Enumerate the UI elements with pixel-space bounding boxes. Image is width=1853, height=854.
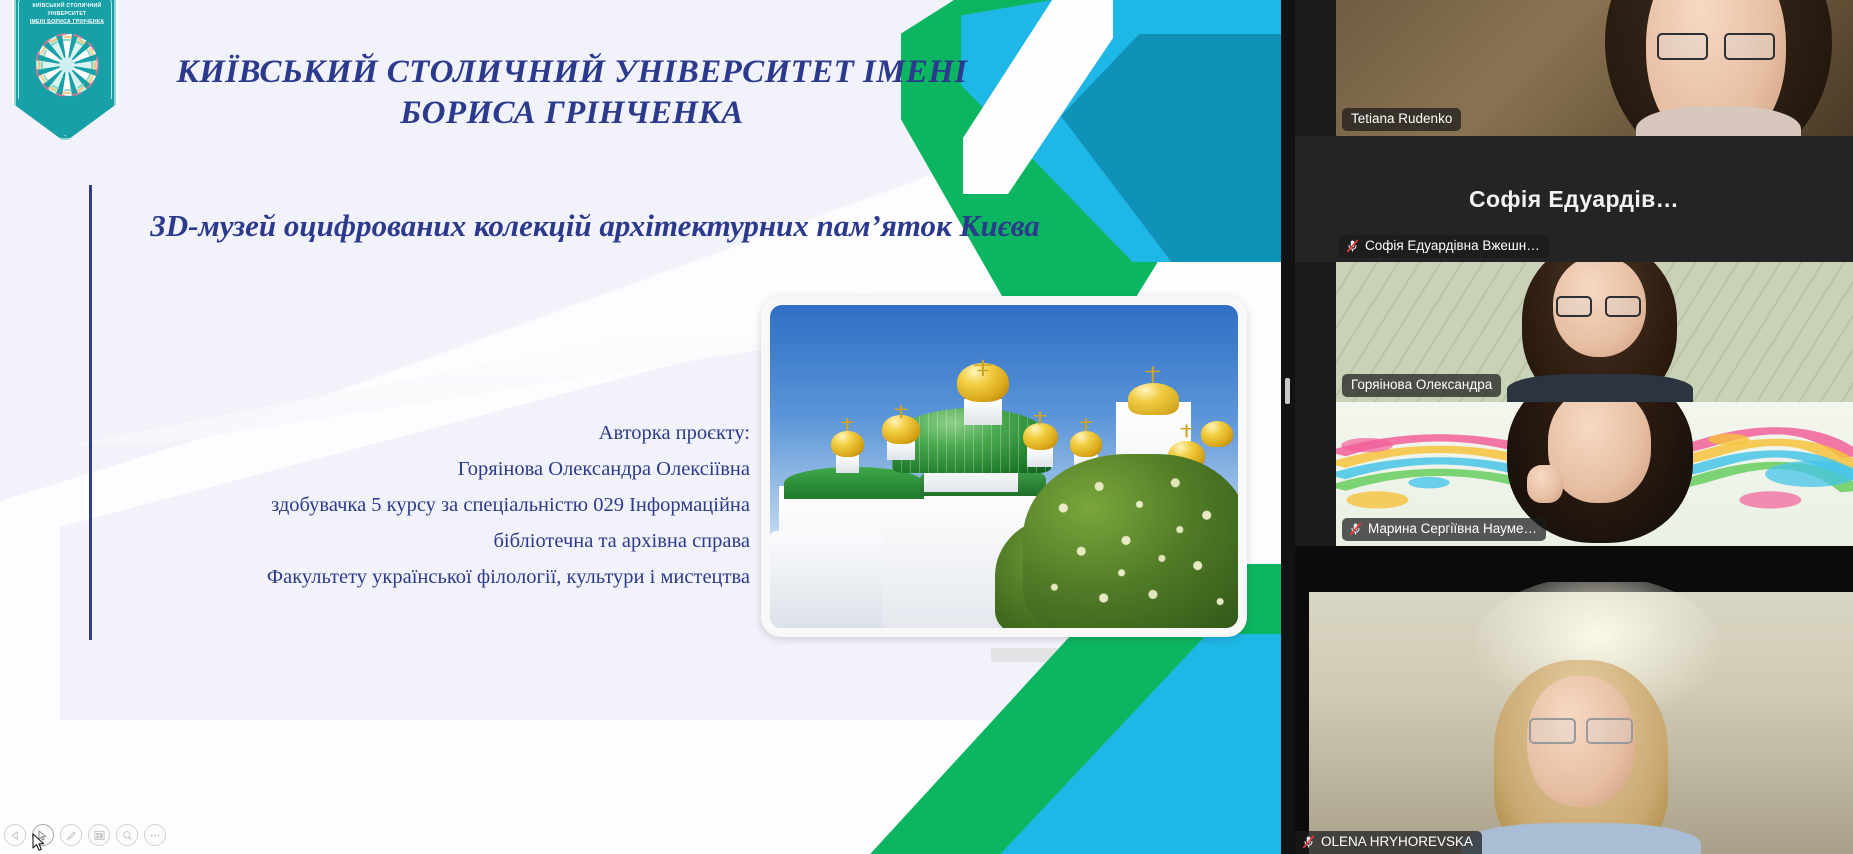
all-slides-button[interactable] (88, 824, 110, 846)
participant-name-label: Софія Едуардівна Вжешн… (1339, 235, 1549, 258)
page-title: КИЇВСЬКИЙ СТОЛИЧНИЙ УНІВЕРСИТЕТ ІМЕНІ БО… (132, 52, 1012, 134)
participant-name-text: Горяінова Олександра (1351, 377, 1492, 393)
presenter-toolbar[interactable] (4, 824, 166, 846)
author-line: Факультету української філології, культу… (120, 559, 750, 595)
crest-line-1: Київський столичний університет (18, 3, 116, 19)
author-line: Горяінова Олександра Олексіївна (120, 451, 750, 487)
hand (1527, 465, 1563, 502)
clothing (1461, 823, 1700, 854)
participant-name-label: Tetiana Rudenko (1342, 108, 1461, 131)
glasses-left-lens (1529, 718, 1575, 744)
glasses-right-lens (1605, 296, 1641, 317)
mic-muted-icon (1302, 835, 1315, 849)
participant-tile[interactable]: Tetiana Rudenko (1336, 0, 1853, 136)
participant-name-text: Tetiana Rudenko (1351, 111, 1452, 127)
mic-muted-icon (1346, 239, 1359, 253)
presentation-slide[interactable]: Київський столичний університет імені Бо… (0, 0, 1281, 854)
participant-tile[interactable]: Марина Сергіївна Науме… (1336, 402, 1853, 546)
project-subtitle: 3D-музей оцифрованих колекцій архітектур… (120, 205, 1070, 248)
more-options-button[interactable] (144, 824, 166, 846)
previous-slide-button[interactable] (4, 824, 26, 846)
photo-chestnut-blooms (1023, 454, 1238, 628)
participant-name-label: Горяінова Олександра (1342, 374, 1501, 397)
participant-name-text: Марина Сергіївна Науме… (1368, 521, 1537, 537)
glasses-right-lens (1724, 33, 1776, 60)
participant-tile[interactable]: Горяінова Олександра (1336, 262, 1853, 402)
participant-name-text: Софія Едуардівна Вжешн… (1365, 238, 1540, 254)
author-line: бібліотечна та архівна справа (120, 523, 750, 559)
participant-tile[interactable]: OLENA HRYHOREVSKA (1295, 582, 1853, 854)
star-burst-icon (32, 30, 102, 100)
glasses-right-lens (1586, 718, 1632, 744)
screen-root: Київський столичний університет імені Бо… (0, 0, 1853, 854)
participant-rail: Tetiana Rudenko Софія Едуардів… Софія Ед… (1295, 0, 1853, 854)
glasses-left-lens (1657, 33, 1709, 60)
author-line: здобувачка 5 курсу за спеціальністю 029 … (120, 487, 750, 523)
face-skin (1548, 402, 1651, 503)
zoom-in-button[interactable] (116, 824, 138, 846)
crest-divider (30, 23, 104, 24)
clothing (1507, 374, 1693, 402)
author-credits: Авторка проєкту: Горяінова Олександра Ол… (120, 415, 750, 595)
author-line: Авторка проєкту: (120, 415, 750, 451)
pen-tool-button[interactable] (60, 824, 82, 846)
participant-tile[interactable]: Софія Едуардів… Софія Едуардівна Вжешн… (1295, 136, 1853, 262)
participant-name-label: OLENA HRYHOREVSKA (1295, 831, 1482, 854)
lavra-photo (770, 305, 1238, 628)
glasses-left-lens (1556, 296, 1592, 317)
laser-pointer-button[interactable] (32, 824, 54, 846)
participant-name-text: OLENA HRYHOREVSKA (1321, 834, 1473, 850)
clothing (1636, 106, 1801, 136)
drag-handle[interactable] (1285, 378, 1290, 404)
panel-divider[interactable] (1281, 0, 1295, 854)
participant-name-label: Марина Сергіївна Науме… (1342, 518, 1546, 541)
video-feed (1309, 592, 1853, 854)
rail-gap (1295, 546, 1853, 582)
slide-photo-card (761, 296, 1247, 637)
vertical-accent-rule (89, 185, 92, 640)
mic-muted-icon (1349, 522, 1362, 536)
